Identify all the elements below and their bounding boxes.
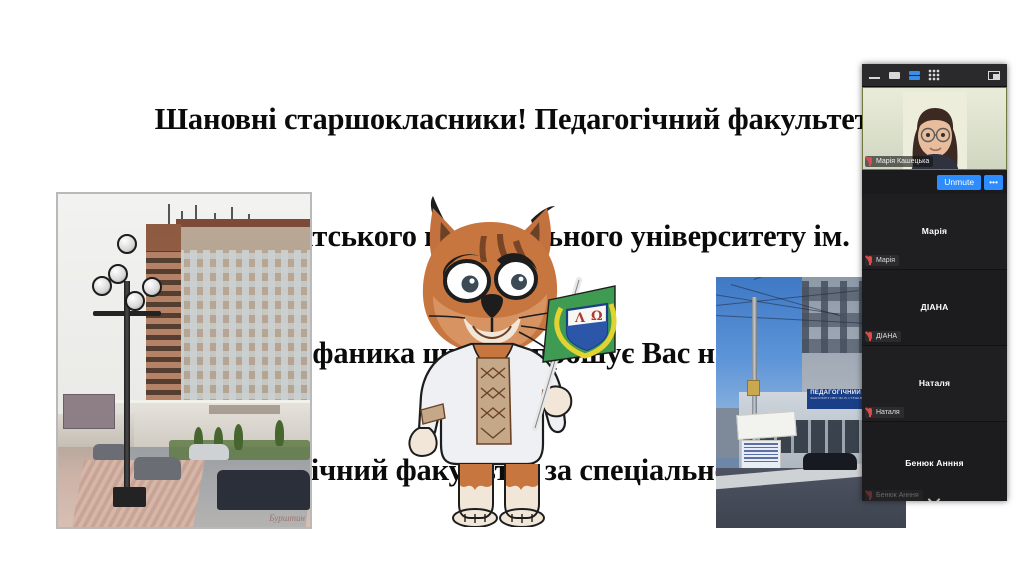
- building-sign: [209, 405, 280, 413]
- slide-stage: Шановні старшокласники! Педагогічний фак…: [0, 0, 1024, 576]
- mic-muted-icon: [867, 408, 873, 417]
- photo-main-building: Бурштин: [56, 192, 312, 529]
- participant-name-chip: ДІАНА: [865, 331, 901, 342]
- participant-list[interactable]: Марія Марія ДІАНА ДІАНА Наталя Наталя: [862, 194, 1007, 502]
- zoom-action-bar[interactable]: Unmute •••: [862, 170, 1007, 194]
- car: [134, 457, 182, 480]
- mic-muted-icon: [867, 256, 873, 265]
- building-tower: [146, 224, 181, 420]
- speaker-view-icon[interactable]: [888, 70, 901, 81]
- lamp-globe: [125, 291, 145, 311]
- self-video-name: Марія Кашецька: [876, 158, 929, 165]
- participant-name: Наталя: [919, 378, 950, 388]
- mic-muted-icon: [867, 332, 873, 341]
- car: [189, 444, 229, 461]
- tower-balconies: [146, 251, 181, 416]
- participant-name-chip: Бенюк Анння: [865, 490, 923, 501]
- car: [217, 470, 310, 510]
- participant-name: Бенюк Анння: [905, 458, 964, 468]
- unmute-button[interactable]: Unmute: [937, 175, 981, 190]
- tree: [275, 420, 284, 446]
- pole-box: [747, 380, 760, 396]
- participant-chip-name: ДІАНА: [876, 333, 897, 340]
- participant-chip-name: Бенюк Анння: [876, 492, 919, 499]
- participant-chip-name: Наталя: [876, 409, 900, 416]
- self-video-name-chip: Марія Кашецька: [865, 156, 933, 167]
- split-view-icon[interactable]: [908, 70, 921, 81]
- participant-name: Марія: [922, 226, 947, 236]
- street-poster: [736, 411, 797, 440]
- svg-text:Λ: Λ: [574, 311, 586, 326]
- car: [803, 453, 856, 471]
- participant-name: ДІАНА: [921, 302, 949, 312]
- participant-tile[interactable]: ДІАНА ДІАНА: [862, 270, 1007, 346]
- lamp-post: [124, 281, 130, 507]
- building-windows: [177, 250, 311, 412]
- minimize-icon[interactable]: [868, 70, 881, 81]
- self-video-tile[interactable]: Марія Кашецька: [862, 87, 1007, 170]
- mic-muted-icon: [867, 157, 873, 166]
- participant-tile[interactable]: Бенюк Анння Бенюк Анння: [862, 422, 1007, 502]
- zoom-meeting-panel[interactable]: Марія Кашецька Unmute ••• Марія Марія ДІ…: [862, 64, 1007, 501]
- participant-tile[interactable]: Наталя Наталя: [862, 346, 1007, 422]
- building-main-block: [176, 227, 311, 420]
- more-options-button[interactable]: •••: [984, 175, 1003, 190]
- svg-text:Ω: Ω: [591, 309, 603, 324]
- participant-name-chip: Наталя: [865, 407, 904, 418]
- participant-name-chip: Марія: [865, 255, 899, 266]
- picture-in-picture-icon[interactable]: [988, 70, 1001, 81]
- chevron-down-icon[interactable]: [929, 495, 940, 502]
- photo-signature: Бурштин: [269, 513, 305, 523]
- participant-tile[interactable]: Марія Марія: [862, 194, 1007, 270]
- lynx-mascot: Λ Ω: [385, 192, 635, 527]
- mic-muted-icon: [867, 491, 873, 500]
- gallery-view-icon[interactable]: [928, 69, 940, 81]
- billboard: [63, 394, 115, 429]
- zoom-toolbar[interactable]: [862, 64, 1007, 87]
- lamp-base: [113, 487, 146, 507]
- participant-chip-name: Марія: [876, 257, 895, 264]
